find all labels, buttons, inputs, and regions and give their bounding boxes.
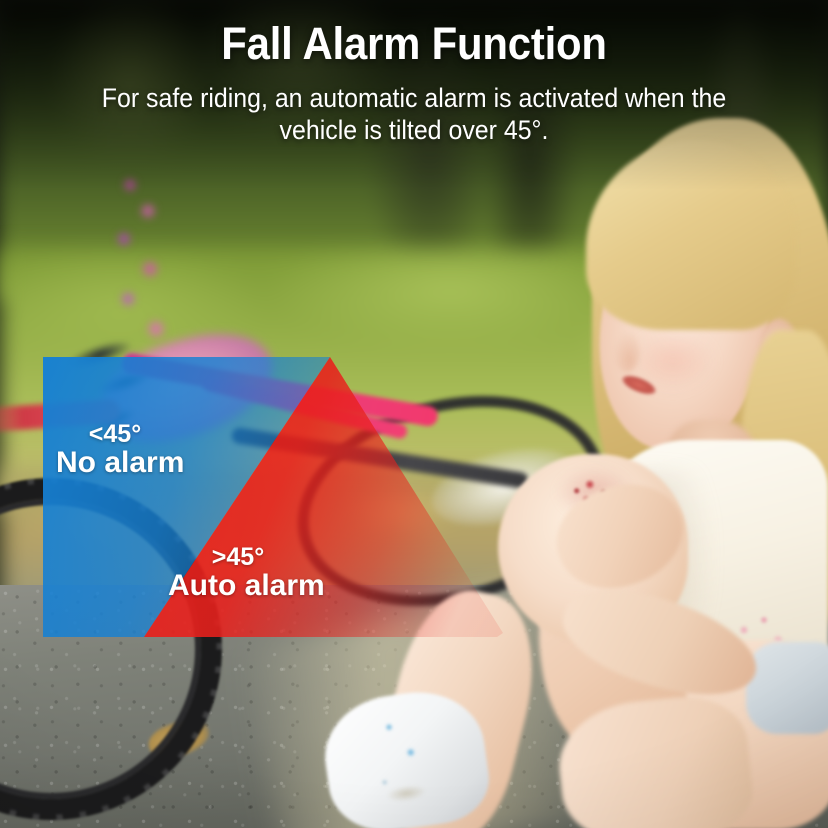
- page-subtitle: For safe riding, an automatic alarm is a…: [94, 82, 733, 147]
- child-shoe-detail: [348, 708, 452, 816]
- page-title: Fall Alarm Function: [29, 18, 799, 70]
- child-nose: [614, 332, 640, 372]
- child-shorts: [746, 642, 828, 734]
- product-feature-banner: Fall Alarm Function For safe riding, an …: [0, 0, 828, 828]
